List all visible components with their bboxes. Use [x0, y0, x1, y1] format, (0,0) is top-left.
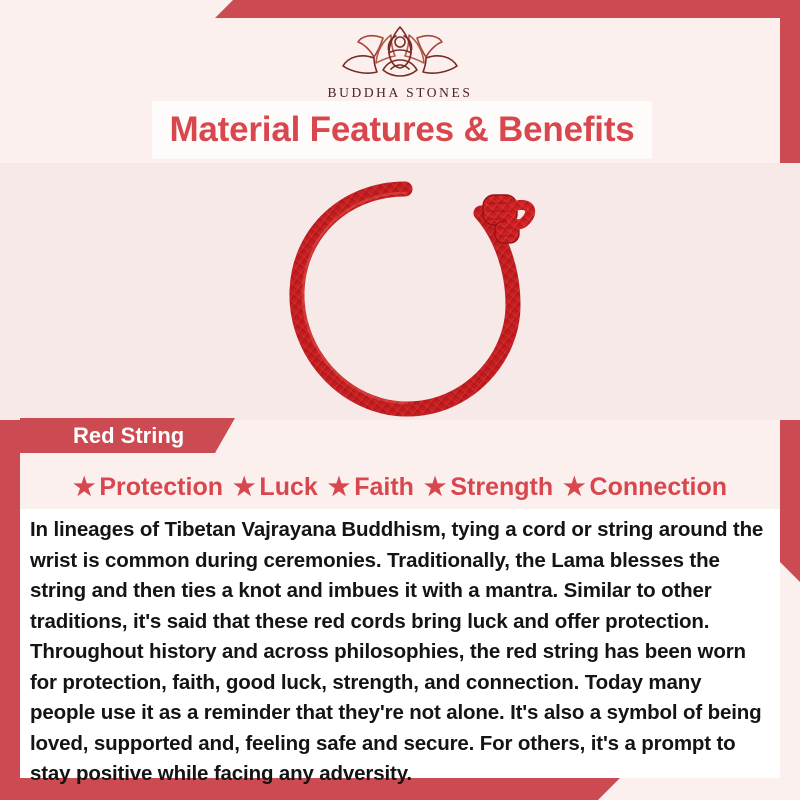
- product-label: Red String: [20, 423, 184, 449]
- benefit-label: Protection: [99, 473, 223, 502]
- product-image-band: [0, 163, 800, 420]
- star-icon: ★: [73, 475, 95, 500]
- star-icon: ★: [563, 475, 585, 500]
- star-icon: ★: [424, 475, 446, 500]
- benefit-item-faith: ★ Faith: [328, 473, 414, 502]
- brand-wordmark: BUDDHA STONES: [0, 85, 800, 101]
- star-icon: ★: [233, 475, 255, 500]
- benefit-item-connection: ★ Connection: [563, 473, 727, 502]
- benefits-list: ★ Protection ★ Luck ★ Faith ★ Strength ★…: [0, 466, 800, 508]
- title-banner: Material Features & Benefits: [152, 101, 652, 159]
- decorative-top-bar: [215, 0, 800, 18]
- description-body: In lineages of Tibetan Vajrayana Buddhis…: [20, 509, 780, 790]
- benefit-label: Luck: [259, 473, 317, 502]
- product-label-banner: Red String: [20, 418, 235, 453]
- benefit-item-luck: ★ Luck: [233, 473, 318, 502]
- description-panel: In lineages of Tibetan Vajrayana Buddhis…: [20, 509, 780, 778]
- benefit-item-strength: ★ Strength: [424, 473, 553, 502]
- decorative-left-bar: [0, 385, 20, 785]
- red-braided-string-bracelet-image: [255, 163, 565, 420]
- benefit-label: Faith: [354, 473, 414, 502]
- page-title: Material Features & Benefits: [169, 110, 634, 150]
- benefit-label: Connection: [590, 473, 728, 502]
- infographic-page: BUDDHA STONES Material Features & Benefi…: [0, 0, 800, 800]
- benefit-item-protection: ★ Protection: [73, 473, 223, 502]
- lotus-meditation-icon: [335, 20, 465, 82]
- brand-logo: BUDDHA STONES: [0, 20, 800, 101]
- benefit-label: Strength: [450, 473, 553, 502]
- star-icon: ★: [328, 475, 350, 500]
